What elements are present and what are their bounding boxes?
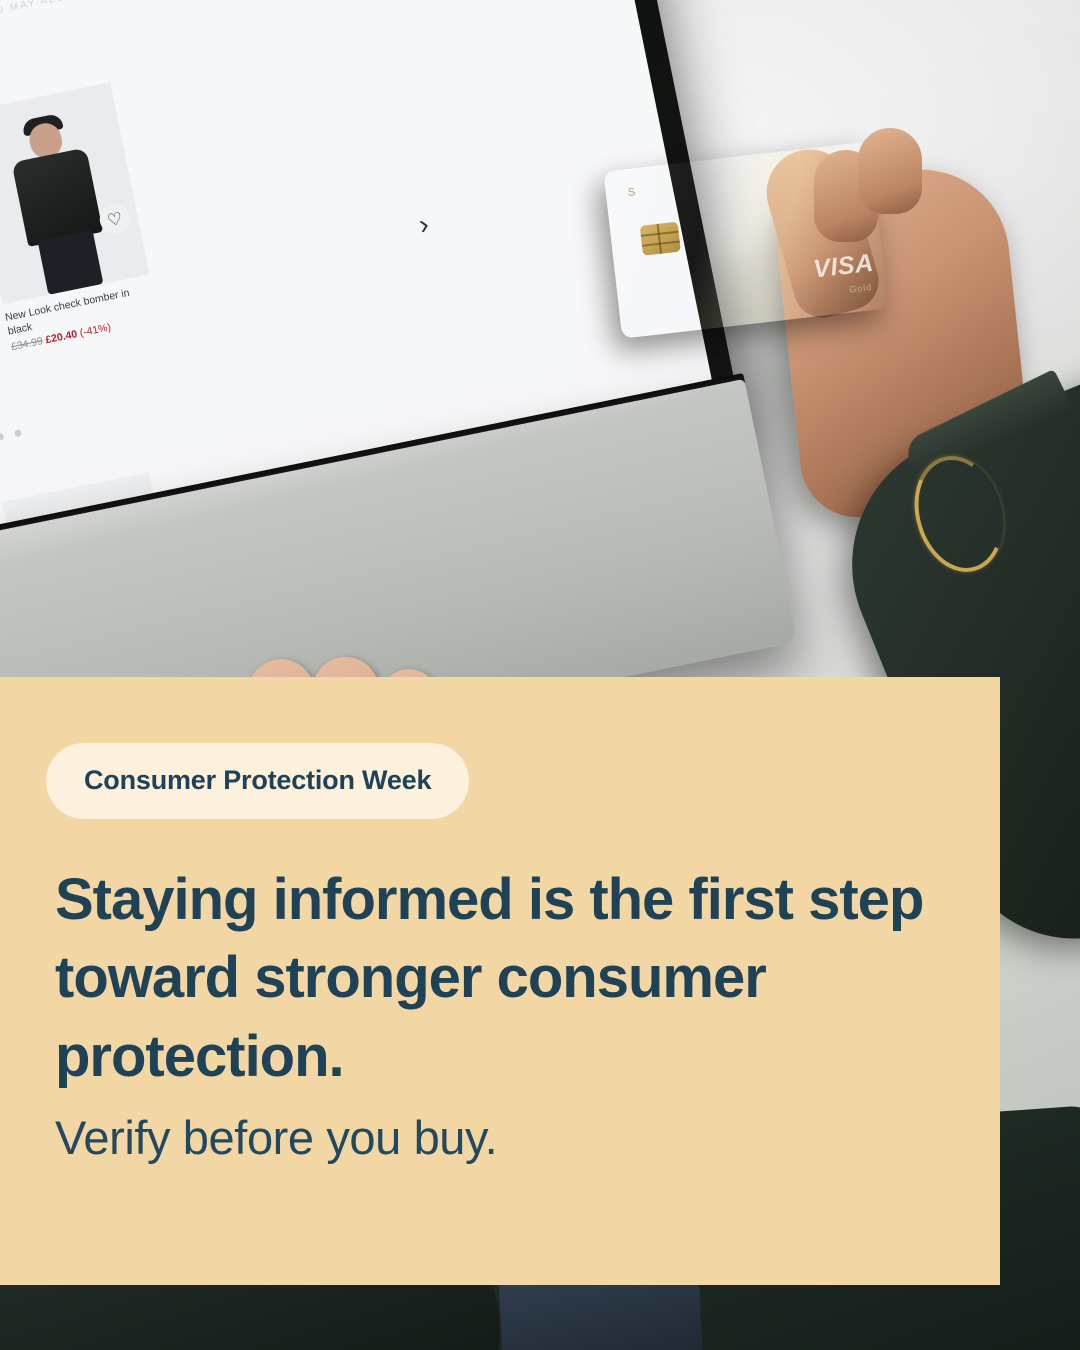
product-card[interactable]: ♡ New Look check bomber in black £34.99 … [0, 82, 160, 353]
status-badge: Consumer Protection Week [46, 743, 469, 819]
badge-label: Consumer Protection Week [84, 765, 431, 796]
model-legs [38, 230, 104, 295]
old-price: £34.99 [10, 335, 44, 353]
social-post-canvas: + commend+carousel_08&featureref1=we+rec… [0, 0, 1080, 1350]
carousel-dot[interactable] [0, 433, 5, 441]
content-panel: Consumer Protection Week Staying informe… [0, 677, 1000, 1285]
carousel-pagination[interactable] [0, 429, 22, 448]
chevron-right-icon[interactable]: › [416, 208, 432, 241]
discount-pct: (-41%) [79, 322, 112, 340]
product-row: ♡ River Island jacket in slate green £50… [0, 82, 160, 420]
product-image: ♡ [0, 82, 149, 304]
product-carousel: ♡ River Island jacket in slate green £50… [0, 0, 624, 179]
page-heading-secondary: YOU MAY ALSO LIKE [0, 0, 109, 20]
card-corner-mark: S [627, 186, 636, 199]
subheading: Verify before you buy. [55, 1109, 935, 1168]
model-figure [0, 82, 149, 304]
carousel-dot[interactable] [14, 429, 22, 437]
new-price: £20.40 [44, 328, 78, 346]
page-title: Staying informed is the first step towar… [55, 861, 935, 1096]
emv-chip-icon [640, 222, 681, 256]
fingertip [858, 128, 922, 214]
